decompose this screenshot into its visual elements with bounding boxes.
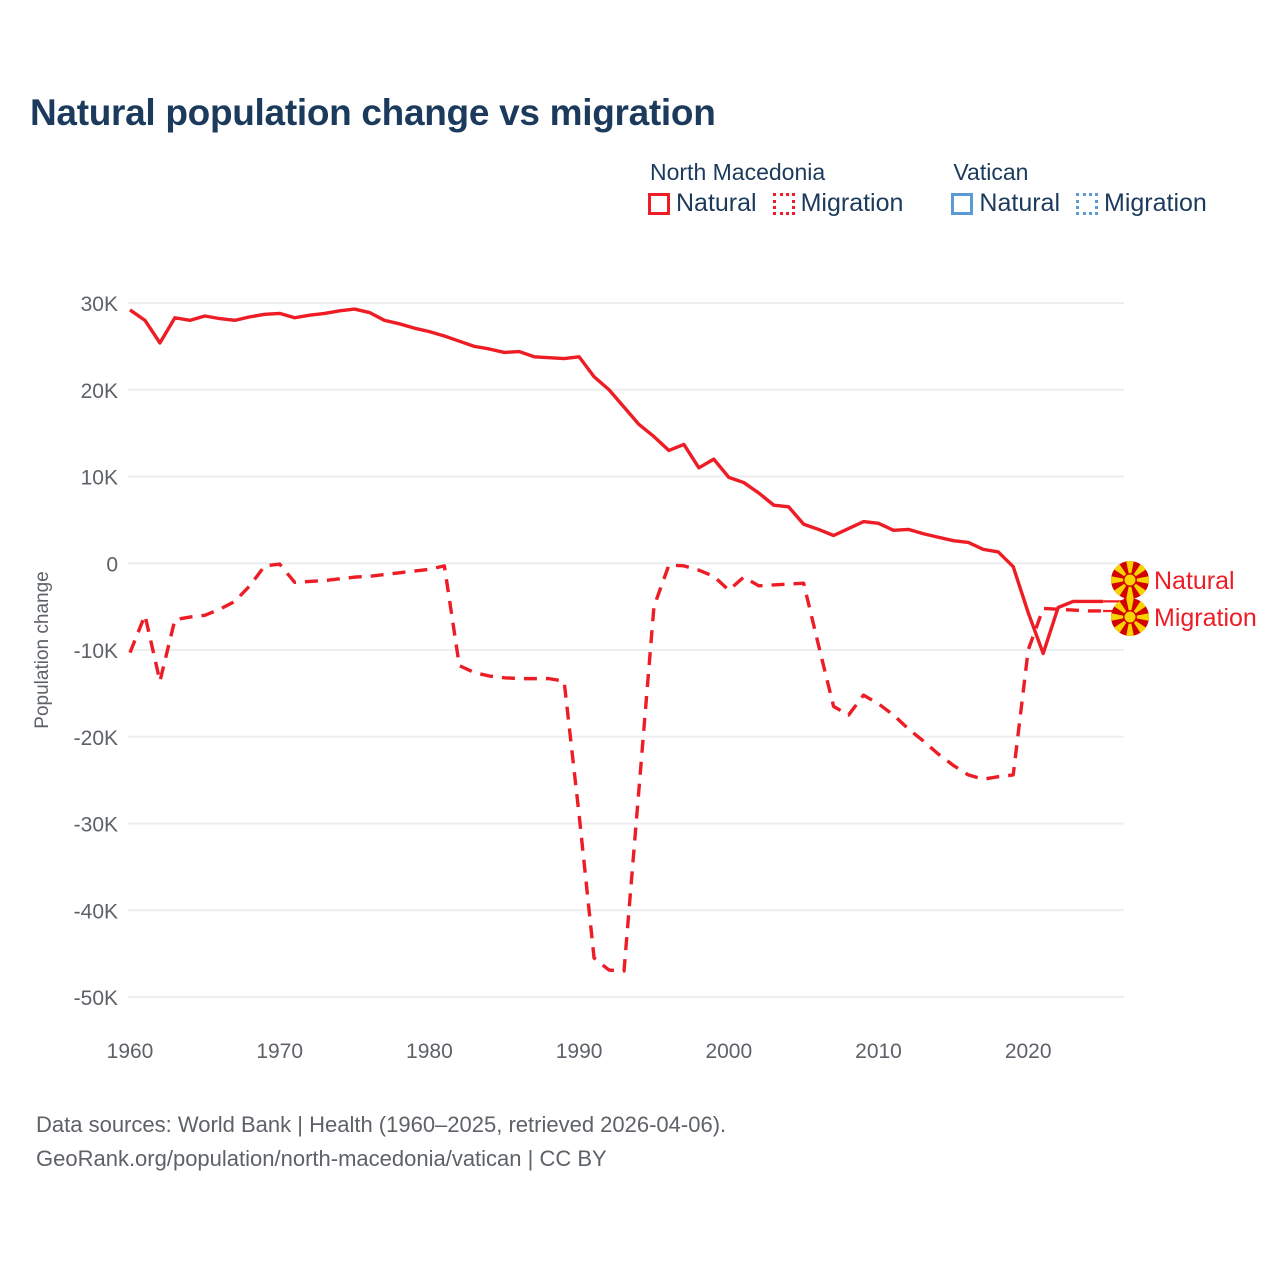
y-tick-label: -50K	[74, 987, 118, 1010]
north-macedonia-flag-icon	[1111, 561, 1149, 599]
chart-series	[130, 309, 1103, 971]
y-tick-label: -10K	[74, 640, 118, 663]
x-tick-label: 2010	[855, 1040, 902, 1063]
y-tick-label: 10K	[81, 467, 118, 490]
y-tick-label: -30K	[74, 814, 118, 837]
footer-data-sources: Data sources: World Bank | Health (1960–…	[36, 1108, 726, 1142]
end-label-natural: Natural	[1154, 567, 1235, 595]
y-tick-label: 20K	[81, 380, 118, 403]
chart-plot-area: 30K20K10K0-10K-20K-30K-40K-50K 196019701…	[0, 0, 1280, 1090]
chart-end-labels: NaturalMigration	[1103, 561, 1257, 636]
y-tick-label: -20K	[74, 727, 118, 750]
x-tick-label: 1990	[556, 1040, 603, 1063]
x-tick-label: 1970	[256, 1040, 303, 1063]
end-label-migration: Migration	[1154, 604, 1257, 632]
x-tick-label: 2020	[1005, 1040, 1052, 1063]
series-line-natural	[130, 309, 1103, 653]
y-tick-label: 30K	[81, 293, 118, 316]
chart-y-tick-labels: 30K20K10K0-10K-20K-30K-40K-50K	[74, 293, 118, 1010]
chart-footer: Data sources: World Bank | Health (1960–…	[36, 1108, 726, 1176]
x-tick-label: 1980	[406, 1040, 453, 1063]
x-tick-label: 1960	[107, 1040, 154, 1063]
chart-x-tick-labels: 1960197019801990200020102020	[107, 1040, 1052, 1063]
north-macedonia-flag-icon	[1111, 598, 1149, 636]
y-axis-title: Population change	[32, 571, 53, 728]
y-tick-label: -40K	[74, 900, 118, 923]
x-tick-label: 2000	[705, 1040, 752, 1063]
y-tick-label: 0	[106, 553, 118, 576]
footer-attribution[interactable]: GeoRank.org/population/north-macedonia/v…	[36, 1142, 726, 1176]
chart-root: Natural population change vs migration N…	[0, 0, 1280, 1280]
